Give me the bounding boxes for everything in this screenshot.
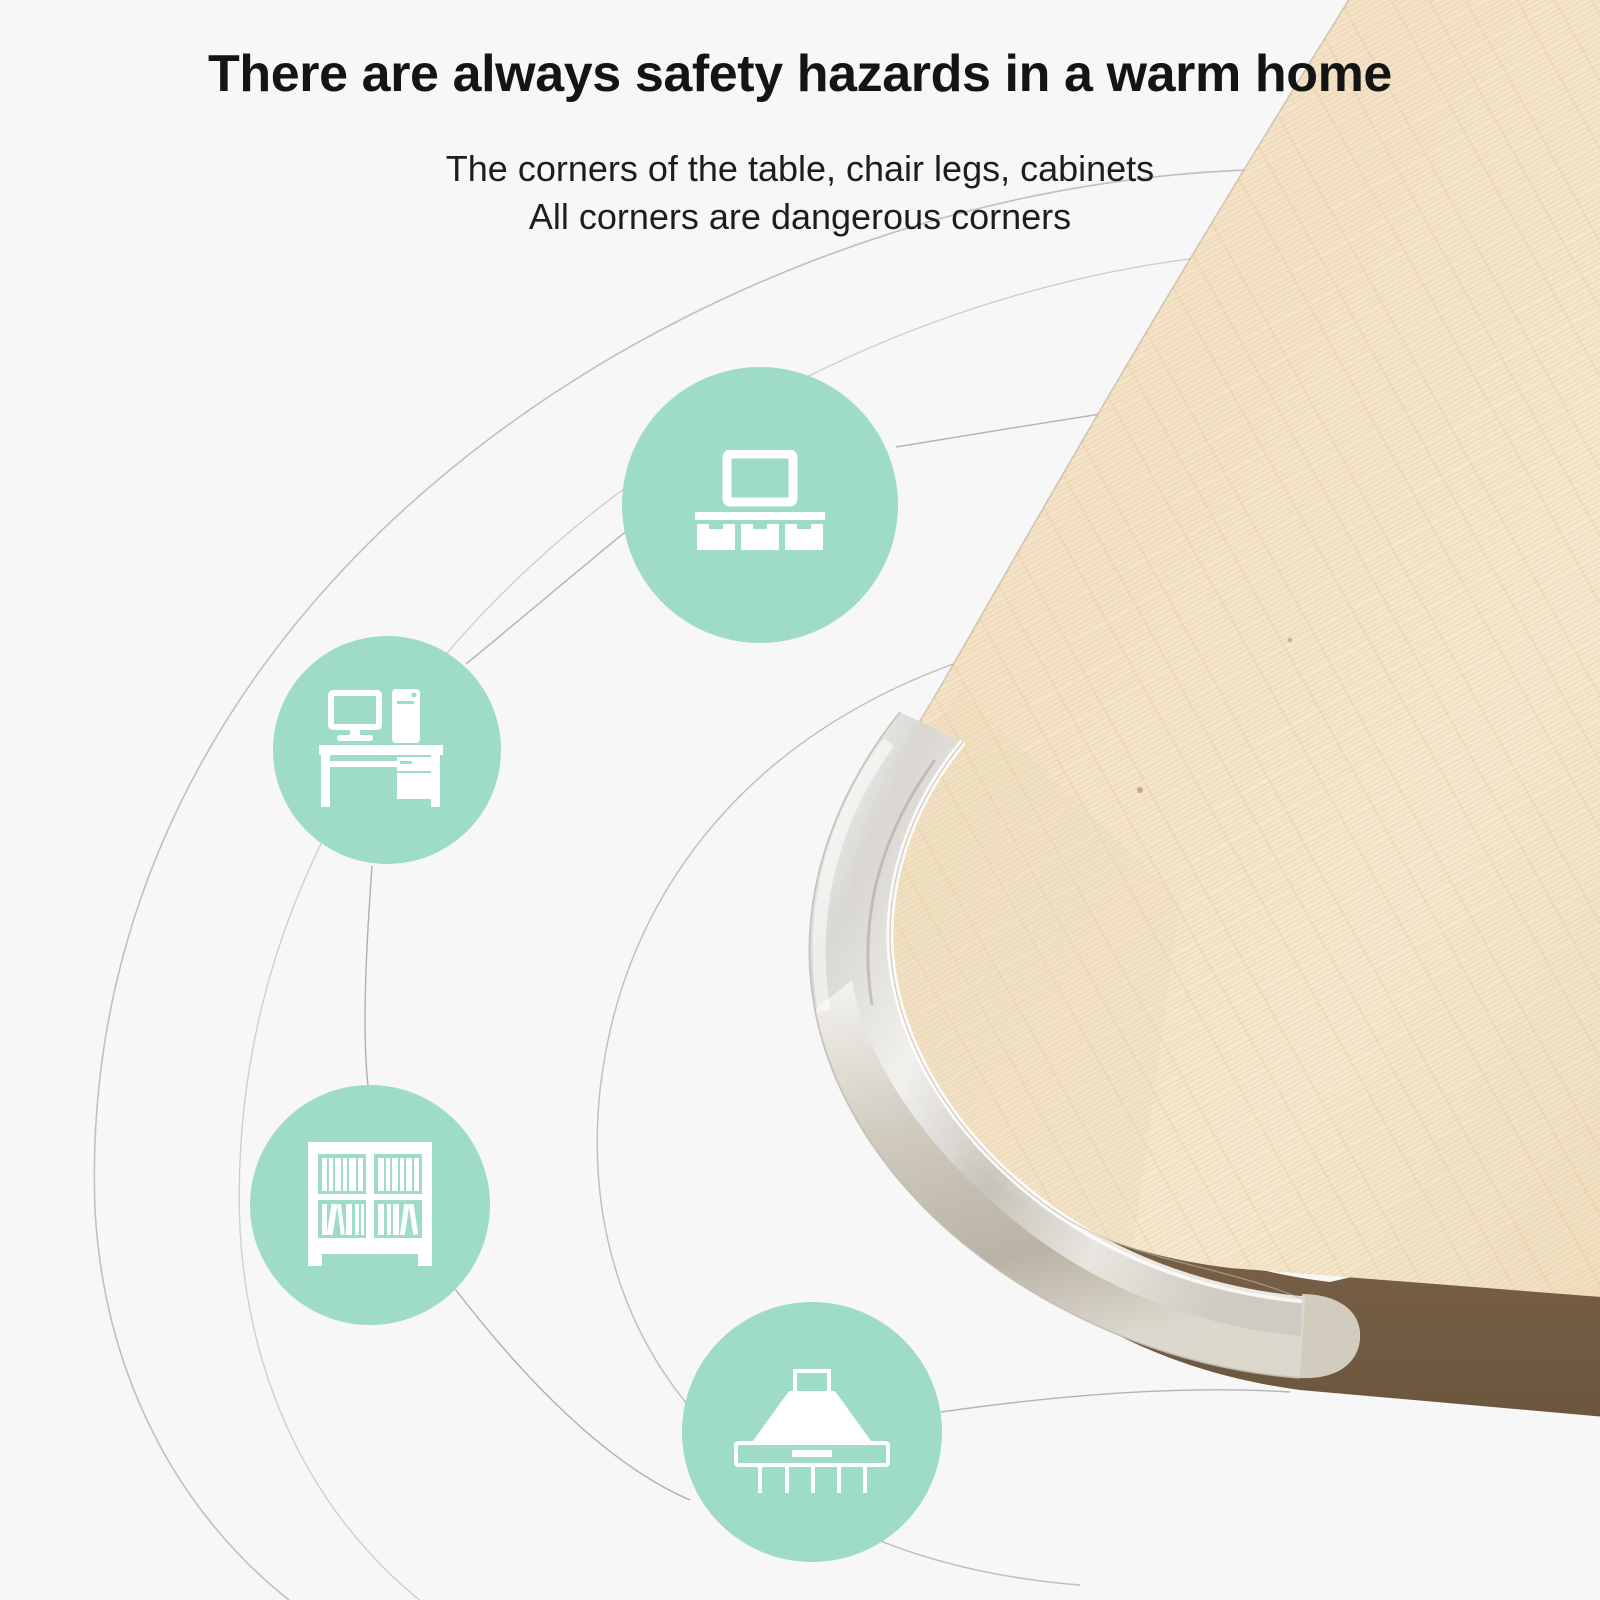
poster-canvas: There are always safety hazards in a war…	[0, 0, 1600, 1600]
page-title: There are always safety hazards in a war…	[0, 44, 1600, 104]
connector-desk-to-bookshelf	[365, 866, 372, 1086]
connector-hood-to-table	[941, 1390, 1290, 1412]
connector-tv-to-table	[896, 395, 1230, 447]
subtitle-line-1: The corners of the table, chair legs, ca…	[0, 148, 1600, 190]
tv-stand-icon	[685, 450, 835, 560]
connector-desk-to-tv	[466, 520, 640, 664]
hazard-bubble-tv-stand[interactable]	[622, 367, 898, 643]
bookshelf-icon	[300, 1140, 440, 1270]
computer-desk-icon	[317, 689, 457, 811]
hazard-bubble-computer-desk[interactable]	[273, 636, 501, 864]
hazard-bubble-bookshelf[interactable]	[250, 1085, 490, 1325]
subtitle-line-2: All corners are dangerous corners	[0, 196, 1600, 238]
connector-bookshelf-to-hood	[452, 1285, 690, 1500]
range-hood-icon	[728, 1369, 896, 1495]
hazard-bubble-range-hood[interactable]	[682, 1302, 942, 1562]
